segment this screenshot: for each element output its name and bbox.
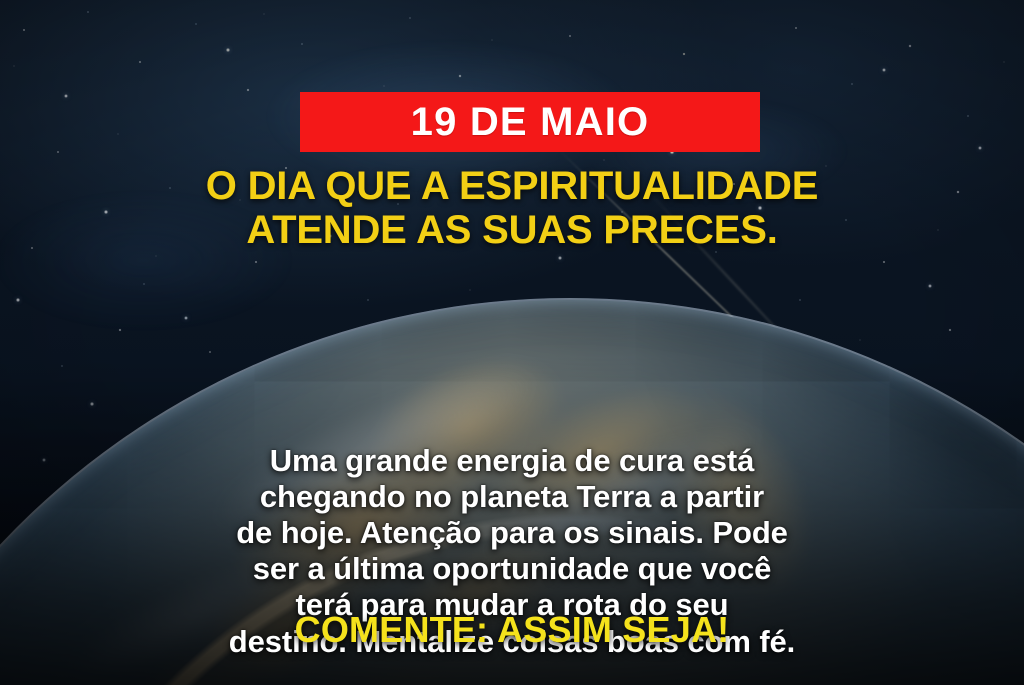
body-line-4: ser a última oportunidade que você: [56, 551, 968, 587]
cta-label: COMENTE: ASSIM SEJA!: [295, 609, 730, 650]
poster-content: 19 DE MAIO O DIA QUE A ESPIRITUALIDADE A…: [0, 0, 1024, 685]
headline-line-2: ATENDE AS SUAS PRECES.: [52, 208, 972, 252]
headline: O DIA QUE A ESPIRITUALIDADE ATENDE AS SU…: [52, 164, 972, 252]
poster-canvas: 19 DE MAIO O DIA QUE A ESPIRITUALIDADE A…: [0, 0, 1024, 685]
body-line-2: chegando no planeta Terra a partir: [56, 479, 968, 515]
body-line-1: Uma grande energia de cura está: [56, 443, 968, 479]
date-banner: 19 DE MAIO: [300, 92, 760, 152]
headline-line-1: O DIA QUE A ESPIRITUALIDADE: [52, 164, 972, 208]
call-to-action: COMENTE: ASSIM SEJA!: [52, 612, 972, 648]
date-banner-label: 19 DE MAIO: [411, 102, 650, 142]
body-line-3: de hoje. Atenção para os sinais. Pode: [56, 515, 968, 551]
